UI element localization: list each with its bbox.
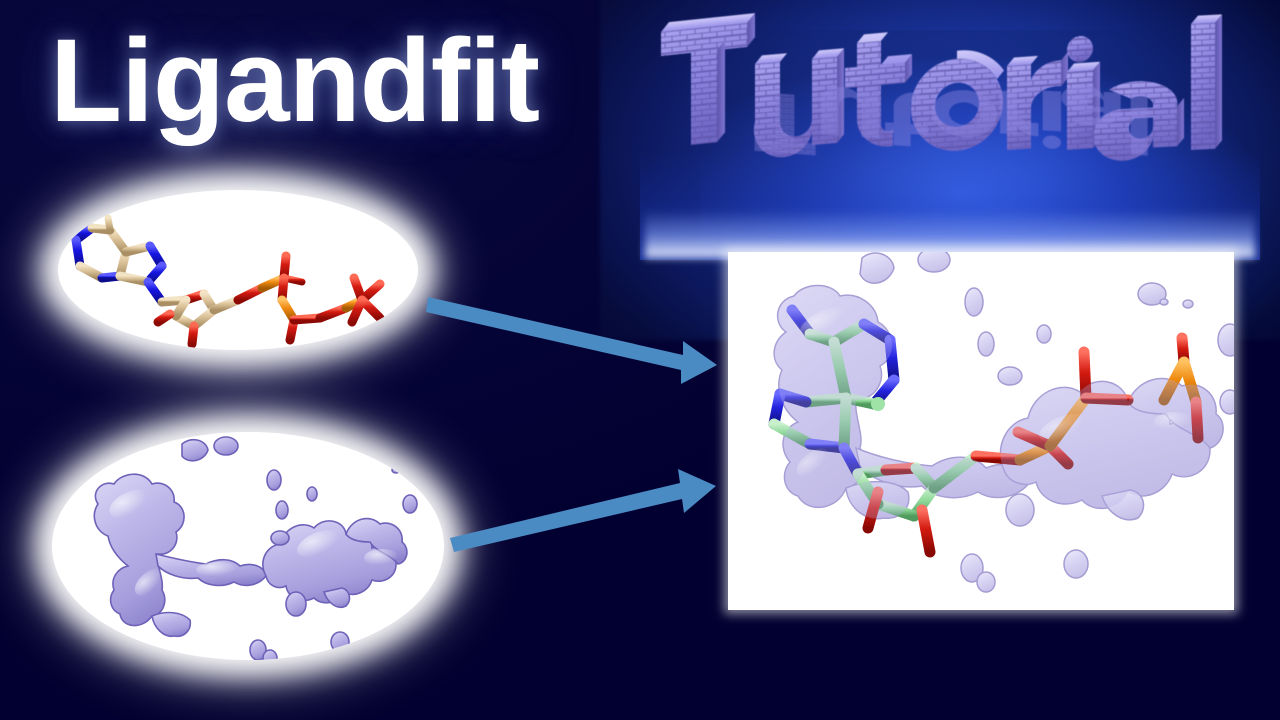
ligand-model-clip bbox=[58, 190, 418, 350]
density-map-clip bbox=[52, 432, 444, 660]
tutorial-reflection-glyphs bbox=[669, 82, 1229, 158]
tutorial-3d-text bbox=[655, 18, 1215, 248]
slide-canvas: Ligandfit bbox=[0, 0, 1280, 720]
page-title: Ligandfit bbox=[50, 22, 539, 140]
fitted-result-panel bbox=[728, 252, 1234, 610]
density-map-panel bbox=[52, 432, 444, 660]
arrow-density-to-result bbox=[448, 458, 728, 553]
ligand-model-panel bbox=[58, 190, 418, 350]
fitted-ligand-in-density bbox=[728, 252, 1234, 610]
density-isosurface bbox=[52, 432, 444, 660]
arrow-ligand-to-result bbox=[425, 285, 725, 390]
ligand-stick-model bbox=[58, 190, 418, 350]
